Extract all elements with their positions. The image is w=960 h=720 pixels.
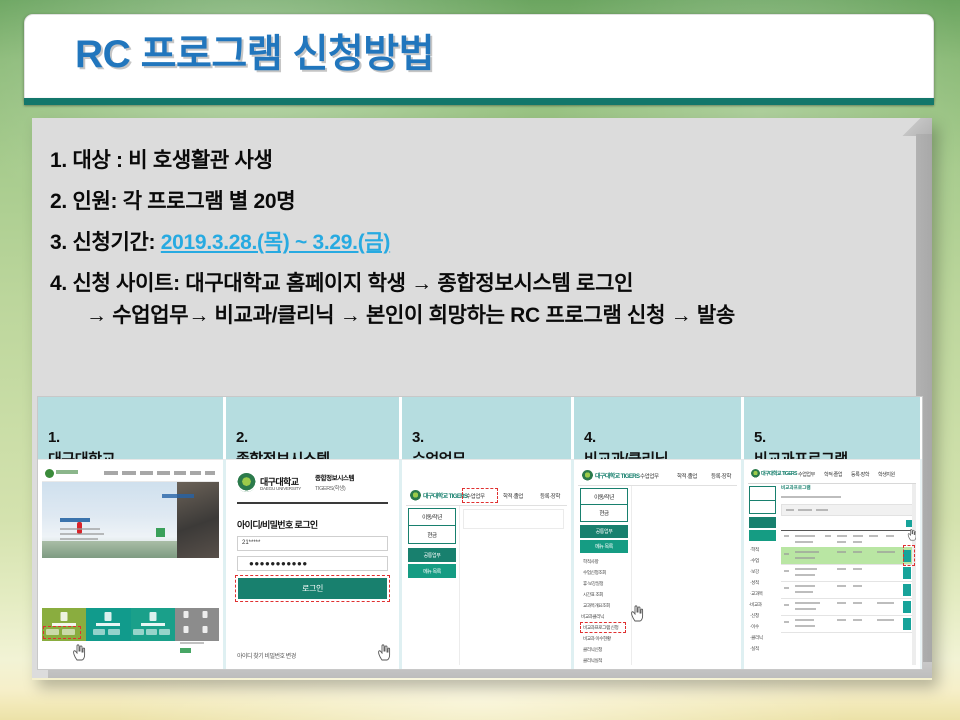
hand-cursor-icon	[377, 643, 391, 661]
tree-item-1[interactable]: 학적사항	[583, 559, 598, 565]
list-side-box-2[interactable]	[749, 501, 776, 514]
faculty-service-icon	[105, 612, 112, 621]
cell-1	[784, 587, 789, 589]
list-side-item-9[interactable]: ·클리닉	[750, 635, 763, 641]
login-logo-subtitle: DAEGU UNIVERSITY	[260, 486, 301, 491]
tile-2-button-a[interactable]	[93, 629, 105, 635]
bullet-3-number: 3.	[50, 231, 67, 254]
cell-2b	[795, 608, 816, 610]
slide-canvas: RC 프로그램 신청방법 1. 대상 : 비 호생활관 사생 2. 인원: 각 …	[0, 0, 960, 720]
table-row[interactable]	[781, 598, 914, 616]
step-header-4: 4. 비교과/클리닉	[574, 397, 744, 459]
hero-headline	[60, 518, 90, 522]
step-header-2: 2. 종합정보시스템 로그인	[226, 397, 402, 459]
login-button-highlight-box	[235, 575, 390, 602]
login-system-name: 종합정보시스템 TIGERS(학생)	[315, 474, 354, 494]
col-head-3	[825, 535, 831, 537]
step-cell-1	[38, 459, 226, 669]
main-placeholder-row	[463, 509, 564, 529]
hero-sub-3	[60, 538, 98, 540]
screenshot-portal-class-menu: 대구대학교 TIGERS 수업업무 학적·졸업 등록·장학 이동/작년 현금 공…	[406, 486, 567, 665]
col-head-5b	[853, 541, 862, 543]
sidebar-box-2[interactable]: 현금	[408, 526, 456, 544]
list-nav-4[interactable]: 학생지원	[878, 471, 895, 478]
portal-main-area	[459, 506, 567, 665]
tile-online-lecture[interactable]	[131, 608, 175, 641]
homepage-quicklink-tiles	[42, 608, 219, 641]
bullet-2-number: 2.	[50, 190, 67, 213]
homepage-nav-item-3[interactable]	[140, 471, 153, 475]
bullet-3-label: 신청기간:	[72, 231, 155, 254]
table-row[interactable]	[781, 581, 914, 599]
cell-2b	[795, 574, 815, 576]
cell-2	[795, 551, 819, 553]
homepage-nav-item-4[interactable]	[157, 471, 170, 475]
login-id-input[interactable]: 21*****	[237, 536, 388, 551]
login-id-value: 21*****	[242, 540, 260, 546]
cell-4	[853, 602, 862, 604]
row-action-button[interactable]	[903, 601, 911, 613]
bullet-item-1: 1. 대상 : 비 호생활관 사생	[50, 150, 930, 171]
portal-nav-tuition[interactable]: 등록·장학	[711, 472, 731, 480]
sidebar-green-1[interactable]: 공통업무	[580, 525, 628, 538]
search-field-label-3	[816, 509, 828, 511]
col-head-5	[853, 535, 863, 537]
tree-item-6[interactable]: 비교과클리닉	[581, 614, 604, 620]
bullet-item-4-continued: → 수업업무→ 비교과/클리닉 → 본인이 희망하는 RC 프로그램 신청 → …	[50, 305, 930, 326]
cell-4	[853, 551, 862, 553]
screenshot-login-page: 대구대학교 DAEGU UNIVERSITY 종합정보시스템 TIGERS(학생…	[230, 466, 395, 665]
step-cell-2: 대구대학교 DAEGU UNIVERSITY 종합정보시스템 TIGERS(학생…	[226, 459, 402, 669]
title-accent-bar	[24, 98, 934, 105]
cell-2	[795, 568, 817, 570]
row-action-button[interactable]	[903, 567, 911, 579]
portal-nav-class-affairs[interactable]: 수업업무	[640, 472, 659, 480]
step-cell-4: 대구대학교 TIGERS 수업업무 학적·졸업 등록·장학 이동/작년 현금 공…	[574, 459, 744, 669]
list-table-header	[781, 530, 914, 548]
tile-2-label	[96, 623, 120, 626]
portal-logo-icon	[582, 470, 593, 481]
list-logo-text: 대구대학교 TIGERS	[761, 470, 797, 477]
bullet-item-4: 4. 신청 사이트: 대구대학교 홈페이지 학생 → 종합정보시스템 로그인	[50, 273, 930, 294]
student-service-icon	[61, 612, 68, 621]
list-side-item-10[interactable]: ·실적	[750, 646, 759, 652]
list-scrollbar[interactable]	[912, 484, 916, 665]
list-side-box-1[interactable]	[749, 486, 776, 501]
cell-1	[784, 570, 789, 572]
portal-logo-icon	[410, 490, 421, 501]
col-head-7	[886, 535, 894, 537]
login-password-input[interactable]: ●●●●●●●●●●●	[237, 556, 388, 571]
table-row[interactable]	[781, 615, 914, 633]
list-side-item-4[interactable]: ·성적	[750, 580, 759, 586]
search-field-label-2	[798, 509, 812, 511]
list-side-item-2[interactable]: ·수업	[750, 558, 759, 564]
bullet-4-text: 신청 사이트: 대구대학교 홈페이지 학생 → 종합정보시스템 로그인	[72, 272, 633, 295]
cell-2	[795, 602, 820, 604]
tile-student-service[interactable]	[42, 608, 86, 641]
tile-3-button-b[interactable]	[146, 629, 157, 635]
bullet-list: 1. 대상 : 비 호생활관 사생 2. 인원: 각 프로그램 별 20명 3.…	[50, 150, 930, 326]
row-action-button[interactable]	[903, 618, 911, 630]
step-2-number: 2.	[236, 429, 248, 446]
hero-sub-2	[60, 533, 104, 535]
tile-3-button-a[interactable]	[133, 629, 144, 635]
homepage-logo-icon	[45, 469, 54, 478]
tree-item-5[interactable]: 교과목개요조회	[583, 603, 610, 609]
sidebar-green-1[interactable]: 공통업무	[408, 548, 456, 562]
cell-2	[795, 585, 815, 587]
login-divider	[237, 502, 388, 504]
cell-5	[877, 551, 895, 553]
list-search-bar[interactable]	[781, 504, 914, 516]
cell-1	[784, 604, 789, 606]
cell-3	[837, 568, 846, 570]
table-row[interactable]	[781, 547, 914, 565]
homepage-nav-item-6[interactable]	[190, 471, 201, 475]
step-4-number: 4.	[584, 429, 596, 446]
cell-1	[784, 553, 789, 555]
cell-2b	[795, 625, 815, 627]
list-side-item-1[interactable]: ·학적	[750, 547, 759, 553]
tile-1-highlight-box	[43, 626, 81, 639]
steps-body-row: 대구대학교 DAEGU UNIVERSITY 종합정보시스템 TIGERS(학생…	[38, 459, 922, 669]
list-side-item-7[interactable]: ·신청	[750, 613, 759, 619]
step-header-3: 3. 수업업무	[402, 397, 574, 459]
cell-5	[877, 619, 894, 621]
portal-nav-academic[interactable]: 학적·졸업	[677, 472, 697, 480]
list-nav-2[interactable]: 학적·졸업	[824, 471, 842, 478]
bullet-item-3: 3. 신청기간: 2019.3.28.(목) ~ 3.29.(금)	[50, 232, 930, 253]
university-emblem-icon	[237, 473, 256, 492]
sidebar-box-1[interactable]: 이동/작년	[408, 508, 456, 526]
login-footer-links[interactable]: 아이디 찾기 비밀번호 변경	[237, 651, 296, 660]
list-tab-label: 비교과프로그램	[781, 485, 811, 491]
tile-faculty-service[interactable]	[86, 608, 130, 641]
screenshot-university-homepage	[42, 466, 219, 665]
homepage-nav-item-7[interactable]	[205, 471, 215, 475]
cell-3	[837, 619, 846, 621]
tree-item-3[interactable]: 휴·보강일정	[583, 581, 603, 587]
cell-3	[837, 551, 846, 553]
homepage-nav-item-2[interactable]	[122, 471, 136, 475]
cell-3	[837, 585, 846, 587]
tree-highlight-box	[580, 622, 626, 633]
col-head-4	[837, 535, 847, 537]
nav-highlight-box	[462, 488, 498, 503]
step-header-1: 1. 대구대학교 홈페이지(학생)	[38, 397, 226, 459]
list-side-item-5[interactable]: ·교과목	[750, 591, 763, 597]
list-nav-3[interactable]: 등록·장학	[851, 471, 869, 478]
tree-item-4[interactable]: 시간표 조회	[583, 592, 603, 598]
list-side-item-3[interactable]: ·보강	[750, 569, 759, 575]
news-card-badge	[180, 648, 191, 653]
cell-2	[795, 619, 814, 621]
portal-logo-text: 대구대학교 TIGERS	[595, 471, 639, 480]
list-nav-1[interactable]: 수업업무	[798, 471, 815, 478]
hand-cursor-icon	[630, 604, 644, 622]
login-heading: 아이디/비밀번호 로그인	[237, 518, 318, 531]
cell-4	[853, 568, 862, 570]
list-logo-icon	[751, 469, 760, 478]
row-action-highlight-box	[903, 545, 915, 566]
tree-item-10[interactable]: 클리닉실적	[583, 658, 602, 664]
bullet-item-2: 2. 인원: 각 프로그램 별 20명	[50, 191, 930, 212]
portal-sidebar: 이동/작년 현금 공통업무 메뉴 목록	[406, 506, 458, 665]
step-5-number: 5.	[754, 429, 766, 446]
tile-3-label	[141, 623, 165, 626]
hero-green-badge	[156, 528, 165, 537]
screenshot-portal-tree-menu: 대구대학교 TIGERS 수업업무 학적·졸업 등록·장학 이동/작년 현금 공…	[578, 466, 737, 665]
hero-caption-text	[162, 494, 194, 498]
tree-item-2[interactable]: 수업신청조회	[583, 570, 606, 576]
list-breadcrumb	[781, 496, 841, 498]
shortcut-icon-3	[183, 626, 188, 633]
step-cell-3: 대구대학교 TIGERS 수업업무 학적·졸업 등록·장학 이동/작년 현금 공…	[402, 459, 574, 669]
shortcut-icon-4	[202, 626, 207, 633]
shortcut-icon-1	[183, 611, 188, 618]
bullet-1-text: 대상 : 비 호생활관 사생	[72, 149, 272, 172]
list-sidebar: ·학적 ·수업 ·보강 ·성적 ·교과목 -비교과 ·신청 ·이수 ·클리닉 ·…	[748, 484, 778, 665]
system-line-2: TIGERS(학생)	[315, 486, 345, 492]
col-head-1	[784, 535, 789, 537]
sidebar-box-2[interactable]: 현금	[580, 505, 628, 522]
bullet-1-number: 1.	[50, 149, 67, 172]
tile-2-button-b[interactable]	[108, 629, 120, 635]
login-password-value: ●●●●●●●●●●●	[249, 560, 308, 568]
tile-3-button-c[interactable]	[159, 629, 170, 635]
page-title: RC 프로그램 신청방법	[75, 23, 434, 79]
portal-logo-text: 대구대학교 TIGERS	[423, 491, 467, 500]
col-head-2b	[795, 541, 813, 543]
search-field-label-1	[786, 509, 794, 511]
system-line-1: 종합정보시스템	[315, 475, 354, 482]
list-side-item-8[interactable]: ·이수	[750, 624, 759, 630]
list-side-green-1[interactable]	[749, 517, 776, 528]
steps-table: 1. 대구대학교 홈페이지(학생) 2. 종합정보시스템 로그인 3. 수업업무…	[37, 396, 923, 670]
hero-sub-1	[60, 528, 100, 530]
sidebar-box-1[interactable]: 이동/작년	[580, 488, 628, 505]
cell-4	[853, 619, 862, 621]
tree-item-9[interactable]: 클리닉신청	[583, 647, 602, 653]
hand-cursor-icon	[907, 528, 916, 541]
hand-cursor-icon	[72, 643, 86, 661]
table-row[interactable]	[781, 564, 914, 582]
screenshot-program-list: 대구대학교 TIGERS 수업업무 학적·졸업 등록·장학 학생지원 ·학적 ·…	[748, 466, 916, 665]
tile-shortcuts[interactable]	[175, 608, 219, 641]
homepage-nav-item-5[interactable]	[174, 471, 186, 475]
portal-nav-tuition[interactable]: 등록·장학	[540, 492, 560, 500]
portal-sidebar: 이동/작년 현금 공통업무 메뉴 목록 학적사항 수업신청조회 휴·보강일정 시…	[578, 486, 630, 665]
list-main-area: 비교과프로그램	[779, 484, 916, 665]
homepage-logo-text	[56, 470, 78, 474]
col-head-6	[869, 535, 878, 537]
step-cell-5: 대구대학교 TIGERS 수업업무 학적·졸업 등록·장학 학생지원 ·학적 ·…	[744, 459, 920, 669]
col-head-2	[795, 535, 815, 537]
news-card-line2	[180, 642, 204, 644]
step-header-5: 5. 비교과프로그램 신청하기	[744, 397, 920, 459]
shortcut-icon-2	[202, 611, 207, 618]
sidebar-green-2[interactable]: 메뉴 목록	[580, 540, 628, 553]
homepage-nav-item-1[interactable]	[104, 471, 118, 475]
cell-3	[837, 602, 846, 604]
col-head-4b	[837, 541, 846, 543]
cell-2b	[795, 591, 813, 593]
step-3-number: 3.	[412, 429, 424, 446]
list-side-item-6[interactable]: -비교과	[749, 602, 762, 608]
steps-header-row: 1. 대구대학교 홈페이지(학생) 2. 종합정보시스템 로그인 3. 수업업무…	[38, 397, 922, 459]
portal-nav-academic[interactable]: 학적·졸업	[503, 492, 523, 500]
bullet-4-number: 4.	[50, 272, 67, 295]
online-lecture-icon	[149, 612, 156, 621]
step-1-number: 1.	[48, 429, 60, 446]
list-side-green-2[interactable]	[749, 530, 776, 541]
tree-item-8[interactable]: 비교과 이수현황	[583, 636, 611, 642]
row-action-button[interactable]	[903, 584, 911, 596]
cell-2b	[795, 557, 815, 559]
sidebar-green-2[interactable]: 메뉴 목록	[408, 564, 456, 578]
bullet-4-text-line2: → 수업업무→ 비교과/클리닉 → 본인이 희망하는 RC 프로그램 신청 → …	[86, 304, 735, 327]
application-period-highlight: 2019.3.28.(목) ~ 3.29.(금)	[161, 231, 390, 254]
bullet-2-text: 인원: 각 프로그램 별 20명	[72, 190, 295, 213]
cell-1	[784, 621, 789, 623]
cell-5	[877, 602, 894, 604]
cell-4	[853, 585, 862, 587]
portal-main-area	[631, 486, 737, 665]
